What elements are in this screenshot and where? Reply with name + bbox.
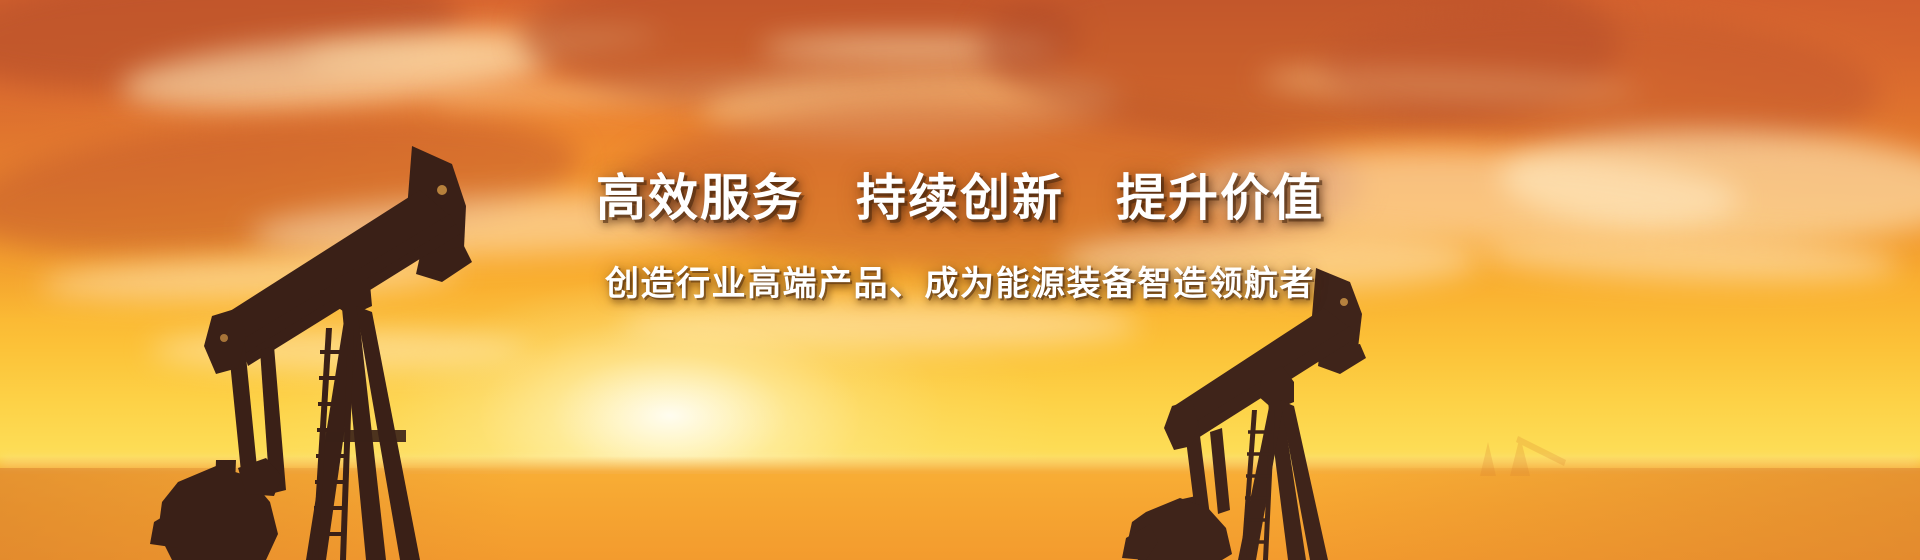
hero-banner: 高效服务 持续创新 提升价值 创造行业高端产品、成为能源装备智造领航者 xyxy=(0,0,1920,560)
pumpjack-silhouette-icon xyxy=(1120,260,1410,560)
pumpjack-left xyxy=(120,130,480,560)
pumpjack-right xyxy=(1120,260,1410,560)
pumpjack-silhouette-icon xyxy=(120,130,480,560)
distant-rig-icon xyxy=(1470,416,1590,476)
